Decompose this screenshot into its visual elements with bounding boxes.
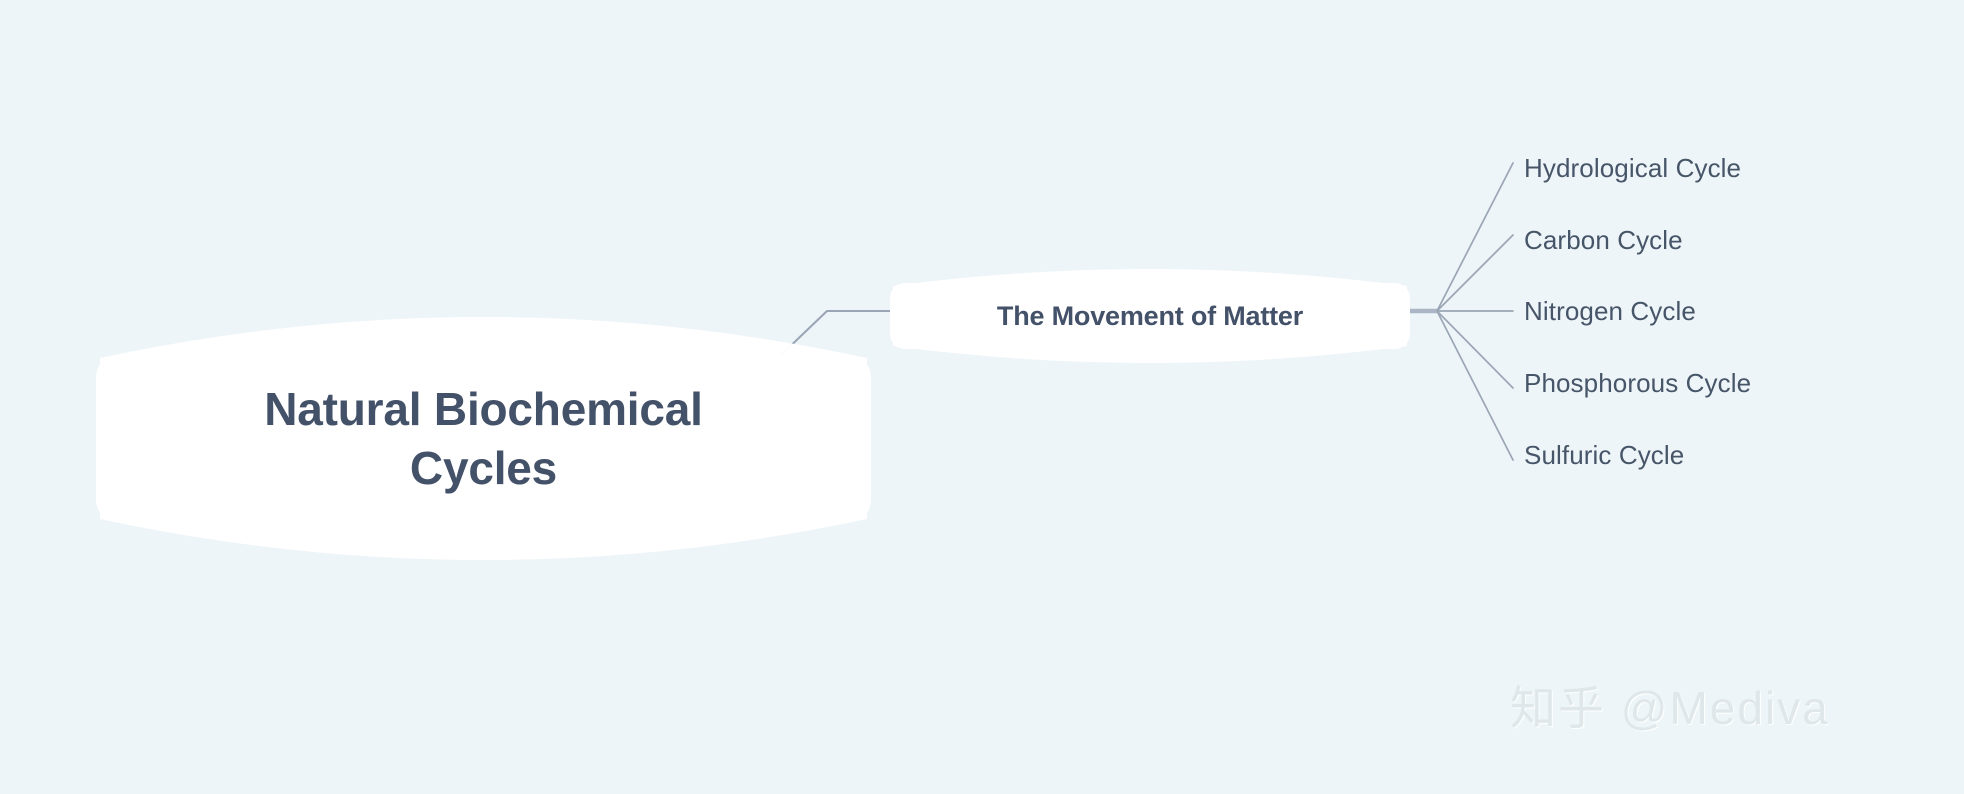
leaf-label-hydrological-cycle[interactable]: Hydrological Cycle <box>1524 155 1741 181</box>
leaf-label-sulfuric-cycle[interactable]: Sulfuric Cycle <box>1524 442 1684 468</box>
leaf-label-phosphorous-cycle[interactable]: Phosphorous Cycle <box>1524 370 1751 396</box>
mindmap-canvas: Natural Biochemical Cycles The Movement … <box>0 0 1964 794</box>
root-node-label: Natural Biochemical Cycles <box>96 355 871 522</box>
branch-node-label: The Movement of Matter <box>890 283 1410 349</box>
leaf-label-nitrogen-cycle[interactable]: Nitrogen Cycle <box>1524 298 1696 324</box>
watermark: 知乎 @Mediva <box>1510 672 1830 738</box>
leaf-label-carbon-cycle[interactable]: Carbon Cycle <box>1524 227 1683 253</box>
